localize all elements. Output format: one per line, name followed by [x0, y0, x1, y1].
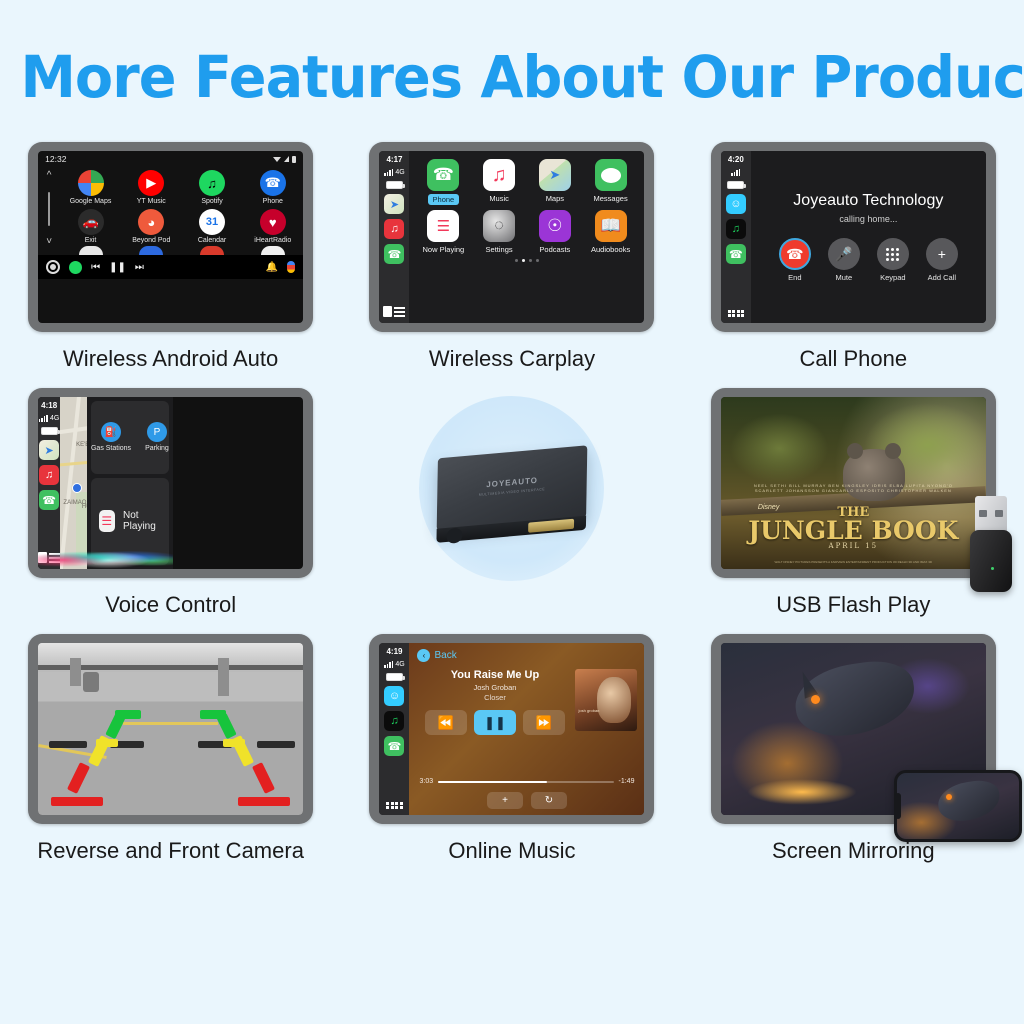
status-icons [273, 156, 296, 163]
end-call-button[interactable]: ☎ End [779, 238, 811, 282]
app-podcasts[interactable]: ☉ Podcasts [527, 210, 583, 254]
now-playing-icon: ☰ [427, 210, 459, 242]
notifications-icon[interactable]: 🔔 [266, 262, 278, 273]
pause-button[interactable]: ❚❚ [109, 262, 126, 273]
signal-icon [39, 415, 48, 422]
car-head-unit-android-auto: 12:32 ^ ˅ [28, 142, 313, 332]
app-yt-music[interactable]: ▶ YT Music [121, 170, 182, 205]
interface-box-device: JOYEAUTO MULTIMEDIA VIDEO INTERFACE [437, 445, 588, 530]
track-album: Closer [419, 693, 570, 702]
car-exit-icon: 🚗 [78, 209, 104, 235]
track-title: You Raise Me Up [419, 669, 570, 681]
previous-track-button[interactable]: ⏮ [91, 262, 100, 273]
remaining-time: -1:49 [619, 778, 635, 785]
app-grid-icon[interactable] [728, 310, 745, 318]
signal-icon [384, 661, 393, 668]
poster-release-date: APRIL 15 [721, 542, 986, 550]
microphone-mute-icon: 🎤 [828, 238, 860, 270]
wheel-stop [257, 741, 295, 748]
feature-card-call-phone: 4:20 ☺ ♫ ☎ Joyeauto [683, 142, 1024, 372]
spotify-icon: ♫ [199, 170, 225, 196]
album-art-text: josh groban [578, 708, 599, 713]
jungle-book-poster: NEEL SETHI BILL MURRAY BEN KINGSLEY IDRI… [721, 397, 986, 569]
keypad-button[interactable]: Keypad [877, 238, 909, 282]
app-label: Phone [428, 194, 460, 205]
progress-row[interactable]: 3:03 -1:49 [419, 778, 634, 785]
keypad-icon [877, 238, 909, 270]
back-button[interactable]: ‹ Back [417, 649, 456, 662]
album-art-portrait [597, 677, 631, 723]
carplay-status-rail: 4:17 4G ➤ ♫ ☎ [379, 151, 409, 323]
page-indicator[interactable] [409, 259, 644, 262]
podcasts-icon: ☉ [539, 210, 571, 242]
map-view[interactable]: KE'ERDA INDUSTRIAL PARK ZAIMAO INDUSTRIA… [60, 397, 86, 569]
app-grid-icon[interactable] [386, 802, 403, 810]
button-label: Mute [835, 273, 852, 282]
app-label: Phone [263, 198, 283, 205]
app-label: Maps [546, 194, 564, 203]
music-icon: ♫ [483, 159, 515, 191]
poi-label: Parking [145, 445, 169, 452]
app-label: Google Maps [70, 198, 112, 205]
youtube-music-icon: ▶ [138, 170, 164, 196]
app-maps[interactable]: ➤ Maps [527, 159, 583, 205]
wheel-stop [49, 741, 87, 748]
parking-icon: P [147, 422, 167, 442]
caller-name: Joyeauto Technology [793, 192, 943, 210]
app-google-maps[interactable]: Google Maps [60, 170, 121, 205]
usb-flash-drive [964, 496, 1018, 592]
app-phone[interactable]: ☎ Phone [242, 170, 303, 205]
garage-pillar [70, 658, 81, 686]
button-label: End [788, 273, 801, 282]
car-head-unit-mirroring [711, 634, 996, 824]
car-head-unit-call: 4:20 ☺ ♫ ☎ Joyeauto [711, 142, 996, 332]
app-phone[interactable]: ☎ Phone [415, 159, 471, 205]
progress-bar[interactable] [438, 781, 613, 783]
parked-object [83, 672, 99, 692]
battery-icon [727, 181, 744, 189]
elapsed-time: 3:03 [419, 778, 433, 785]
signal-status: 4G [384, 661, 404, 668]
app-settings[interactable]: ◌ Settings [471, 210, 527, 254]
guideline-green-left-top [115, 710, 141, 719]
audiobooks-icon: 📖 [595, 210, 627, 242]
repeat-button[interactable]: ↻ [531, 792, 567, 809]
now-playing-card[interactable]: ☰ Not Playing [91, 478, 170, 565]
maps-rail-icon[interactable]: ➤ [39, 440, 59, 460]
poster-fine-print: WALT DISNEY PICTURES PRESENTS A FAIRVIEW… [737, 560, 970, 564]
app-calendar[interactable]: 31 Calendar [182, 209, 243, 244]
add-button[interactable]: + [487, 792, 523, 809]
feature-card-online-music: 4:19 4G ☺ ♫ ☎ [341, 634, 682, 864]
carplay-call-screen: 4:20 ☺ ♫ ☎ Joyeauto [721, 151, 986, 323]
call-controls: ☎ End 🎤 Mute [779, 238, 958, 282]
app-audiobooks[interactable]: 📖 Audiobooks [583, 210, 639, 254]
car-head-unit-camera [28, 634, 313, 824]
signal-status: 4G [39, 415, 59, 422]
android-auto-screen: 12:32 ^ ˅ [38, 151, 303, 323]
google-maps-icon [78, 170, 104, 196]
guideline-green-right-top [200, 710, 226, 719]
app-label: Messages [594, 194, 628, 203]
poi-gas-stations[interactable]: ⛽ Gas Stations [91, 422, 131, 452]
signal-icon [384, 169, 393, 176]
app-exit[interactable]: 🚗 Exit [60, 209, 121, 244]
beyondpod-icon: ◕ [138, 209, 164, 235]
chevron-left-icon: ‹ [417, 649, 430, 662]
feature-card-screen-mirroring: Screen Mirroring [683, 634, 1024, 864]
waze-rail-icon[interactable]: ☺ [384, 686, 404, 706]
feature-card-voice-control: 4:18 4G ➤ ♫ ☎ [0, 388, 341, 618]
now-playing-label: Not Playing [123, 510, 161, 532]
carplay-status-rail: 4:19 4G ☺ ♫ ☎ [379, 643, 409, 815]
app-iheartradio[interactable]: ♥ iHeartRadio [242, 209, 303, 244]
settings-icon: ◌ [483, 210, 515, 242]
scene-glow [747, 779, 857, 805]
poi-card: ⛽ Gas Stations P Parking [91, 401, 170, 474]
car-head-unit-voice: 4:18 4G ➤ ♫ ☎ [28, 388, 313, 578]
app-label: iHeartRadio [254, 237, 291, 244]
app-label: YT Music [137, 198, 166, 205]
usb-drive-body [970, 530, 1012, 592]
page-title: More Features About Our Product [20, 0, 1003, 106]
car-head-unit-music: 4:19 4G ☺ ♫ ☎ [369, 634, 654, 824]
signal-icon [731, 169, 740, 176]
game-character-eye [946, 794, 952, 800]
status-time: 12:32 [45, 154, 66, 164]
spotify-mini-icon[interactable] [69, 261, 82, 274]
map-label-hui: HUI INDU P [78, 504, 86, 511]
phone-notch [895, 793, 901, 819]
app-label: Music [489, 194, 509, 203]
feature-card-usb-flash-play: NEEL SETHI BILL MURRAY BEN KINGSLEY IDRI… [683, 388, 1024, 618]
app-label: Spotify [201, 198, 222, 205]
partial-app-icon [261, 246, 285, 255]
netease-music-rail-icon[interactable]: ♫ [39, 465, 59, 485]
secondary-controls: + ↻ [409, 792, 644, 809]
battery-icon [386, 673, 403, 681]
add-call-icon: + [926, 238, 958, 270]
reverse-camera-view [38, 643, 303, 815]
online-music-screen: 4:19 4G ☺ ♫ ☎ [379, 643, 644, 815]
partial-app-icon [200, 246, 224, 255]
calendar-icon: 31 [199, 209, 225, 235]
product-photo: JOYEAUTO MULTIMEDIA VIDEO INTERFACE [369, 388, 654, 588]
app-spotify[interactable]: ♫ Spotify [182, 170, 243, 205]
app-label: Settings [486, 245, 513, 254]
feature-caption: Wireless Carplay [429, 346, 595, 372]
feature-card-product-box: JOYEAUTO MULTIMEDIA VIDEO INTERFACE [341, 388, 682, 618]
call-status: calling home... [839, 214, 897, 224]
product-halo-background: JOYEAUTO MULTIMEDIA VIDEO INTERFACE [419, 396, 604, 581]
feature-card-reverse-camera: Reverse and Front Camera [0, 634, 341, 864]
phone-icon: ☎ [260, 170, 286, 196]
network-label: 4G [395, 169, 404, 176]
game-character-eye [811, 695, 820, 704]
carplay-home-screen: 4:17 4G ➤ ♫ ☎ [379, 151, 644, 323]
iheartradio-icon: ♥ [260, 209, 286, 235]
spotify-rail-icon[interactable]: ♫ [384, 711, 404, 731]
app-now-playing[interactable]: ☰ Now Playing [415, 210, 471, 254]
feature-card-wireless-carplay: 4:17 4G ➤ ♫ ☎ [341, 142, 682, 372]
android-auto-scroll-rail[interactable]: ^ ˅ [38, 167, 60, 255]
phone-rail-icon[interactable]: ☎ [39, 490, 59, 510]
phone-rail-icon[interactable]: ☎ [384, 736, 404, 756]
guideline-red-left-base [51, 797, 103, 806]
pause-button[interactable]: ❚❚ [474, 710, 516, 735]
feature-caption: Voice Control [105, 592, 236, 618]
map-label-keerda: KE'ERDA INDUSTRIAL PARK [68, 442, 87, 456]
android-auto-media-bar: ⏮ ❚❚ ⏭ 🔔 [38, 255, 303, 279]
car-head-unit-carplay: 4:17 4G ➤ ♫ ☎ [369, 142, 654, 332]
status-time: 4:17 [386, 155, 402, 164]
button-label: Keypad [880, 273, 905, 282]
feature-caption: USB Flash Play [776, 592, 930, 618]
album-artwork: josh groban [575, 669, 637, 731]
back-label: Back [434, 650, 456, 661]
mirroring-smartphone [894, 770, 1022, 842]
chevron-down-icon[interactable]: ˅ [46, 237, 52, 247]
home-icon[interactable] [46, 260, 60, 274]
app-label: Now Playing [423, 245, 465, 254]
track-artist: Josh Groban [419, 683, 570, 692]
now-playing-icon: ☰ [99, 510, 115, 532]
next-track-button[interactable]: ⏭ [135, 262, 144, 273]
carplay-status-rail: 4:18 4G ➤ ♫ ☎ [38, 397, 60, 569]
end-call-icon: ☎ [779, 238, 811, 270]
battery-icon [386, 181, 403, 189]
app-beyond-pod[interactable]: ◕ Beyond Pod [121, 209, 182, 244]
feature-caption: Online Music [448, 838, 575, 864]
battery-icon [292, 156, 296, 163]
carplay-app-grid: ☎ Phone ♫ Music ➤ Maps [409, 151, 644, 254]
partial-app-icon [79, 246, 103, 255]
guideline-yellow-left-tick [96, 739, 118, 747]
app-label: Audiobooks [591, 245, 630, 254]
game-character-art [936, 778, 1003, 824]
car-head-unit-usb: NEEL SETHI BILL MURRAY BEN KINGSLEY IDRI… [711, 388, 996, 578]
maps-rail-icon[interactable]: ➤ [384, 194, 404, 214]
garage-pillar [218, 658, 229, 696]
fast-forward-button[interactable]: ⏩ [523, 710, 565, 735]
android-auto-status-bar: 12:32 [38, 151, 303, 167]
dashboard-icon[interactable] [38, 552, 60, 563]
app-music[interactable]: ♫ Music [471, 159, 527, 205]
app-label: Podcasts [539, 245, 570, 254]
signal-icon [284, 156, 289, 162]
spotify-rail-icon[interactable]: ♫ [726, 219, 746, 239]
app-label: Beyond Pod [132, 237, 170, 244]
add-call-button[interactable]: + Add Call [926, 238, 958, 282]
power-barrel-jack [446, 527, 462, 543]
waze-rail-icon[interactable]: ☺ [726, 194, 746, 214]
voice-control-screen: 4:18 4G ➤ ♫ ☎ [38, 397, 173, 569]
feature-grid: 12:32 ^ ˅ [0, 142, 1024, 864]
network-label: 4G [50, 415, 59, 422]
now-playing-view: ‹ Back You Raise Me Up Josh Groban Close… [409, 643, 644, 815]
status-time: 4:19 [386, 647, 402, 656]
poster-credits: NEEL SETHI BILL MURRAY BEN KINGSLEY IDRI… [742, 483, 965, 493]
messages-icon [595, 159, 627, 191]
usb-led-indicator [991, 567, 994, 570]
poi-label: Gas Stations [91, 445, 131, 452]
signal-status: 4G [384, 169, 404, 176]
dashboard-icon[interactable] [383, 306, 405, 317]
carplay-status-rail: 4:20 ☺ ♫ ☎ [721, 151, 751, 323]
phone-screen [897, 773, 1019, 839]
phone-rail-icon[interactable]: ☎ [384, 244, 404, 264]
phone-icon: ☎ [427, 159, 459, 191]
battery-icon [41, 427, 58, 435]
guideline-red-left [67, 762, 90, 794]
rewind-button[interactable]: ⏪ [425, 710, 467, 735]
feature-card-wireless-android-auto: 12:32 ^ ˅ [0, 142, 341, 372]
mute-button[interactable]: 🎤 Mute [828, 238, 860, 282]
network-label: 4G [395, 661, 404, 668]
wifi-icon [273, 157, 281, 162]
microphone-icon[interactable] [287, 261, 295, 273]
app-messages[interactable]: Messages [583, 159, 639, 205]
chevron-up-icon[interactable]: ^ [47, 171, 52, 181]
status-time: 4:18 [41, 401, 57, 410]
app-label: Calendar [198, 237, 226, 244]
feature-caption: Wireless Android Auto [63, 346, 278, 372]
guideline-yellow-right-tick [223, 739, 245, 747]
playback-controls: ⏪ ❚❚ ⏩ [419, 710, 570, 735]
gas-station-icon: ⛽ [101, 422, 121, 442]
feature-caption: Call Phone [800, 346, 908, 372]
feature-caption: Reverse and Front Camera [37, 838, 304, 864]
partial-app-icon [139, 246, 163, 255]
android-auto-app-grid: Google Maps ▶ YT Music ♫ Spotify [60, 167, 303, 255]
poster-title: THE JUNGLE BOOK [721, 507, 986, 543]
maps-icon: ➤ [539, 159, 571, 191]
button-label: Add Call [928, 273, 956, 282]
scrollbar-thumb[interactable] [48, 192, 50, 226]
netease-music-rail-icon[interactable]: ♫ [384, 219, 404, 239]
guideline-red-right-base [238, 797, 290, 806]
phone-rail-icon[interactable]: ☎ [726, 244, 746, 264]
lane-marking [123, 722, 218, 725]
status-time: 4:20 [728, 155, 744, 164]
guideline-red-right [252, 762, 275, 794]
app-label: Exit [85, 237, 97, 244]
connector-port [528, 519, 574, 533]
poi-parking[interactable]: P Parking [145, 422, 169, 452]
